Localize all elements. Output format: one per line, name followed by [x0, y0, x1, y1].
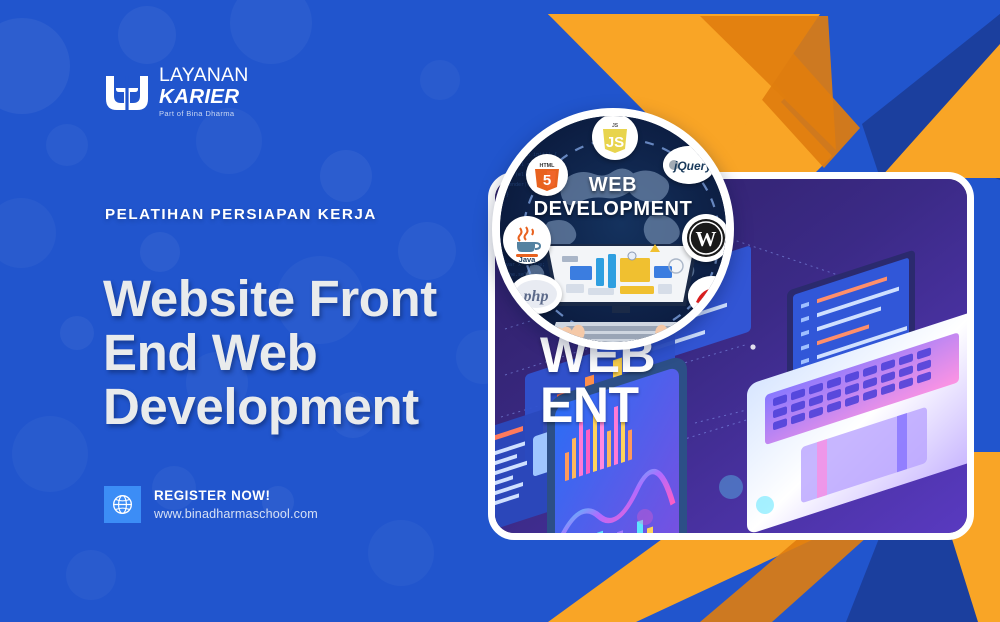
svg-text:JS: JS: [612, 123, 619, 129]
globe-icon: [111, 493, 134, 516]
register-cta[interactable]: REGISTER NOW! www.binadharmaschool.com: [104, 486, 318, 523]
svg-text:5: 5: [543, 172, 551, 189]
bd-monogram-icon: [104, 72, 150, 112]
promotional-banner: WEB ENT function init(): [0, 0, 1000, 622]
register-title: REGISTER NOW!: [154, 489, 318, 502]
content-column: LAYANAN KARIER Part of Bina Dharma PELAT…: [0, 0, 520, 622]
wordpress-icon: W: [682, 214, 730, 262]
register-url[interactable]: www.binadharmaschool.com: [154, 508, 318, 521]
html5-badge: HTML 5: [526, 154, 568, 196]
svg-text:HTML: HTML: [540, 163, 556, 169]
logo-line-2: KARIER: [159, 87, 249, 108]
svg-text:W: W: [696, 227, 717, 251]
svg-text:jQuery: jQuery: [672, 159, 713, 173]
logo-line-1: LAYANAN: [159, 66, 249, 86]
brand-logo[interactable]: LAYANAN KARIER Part of Bina Dharma: [104, 66, 249, 118]
svg-text:JS: JS: [606, 134, 624, 151]
jquery-icon: jQuery: [663, 146, 715, 184]
eyebrow-text: PELATIHAN PERSIAPAN KERJA: [105, 206, 377, 223]
html5-icon: HTML 5: [526, 154, 568, 196]
jquery-badge: jQuery: [663, 146, 715, 184]
svg-text:Java: Java: [519, 255, 537, 264]
wordpress-badge: W: [682, 214, 730, 262]
javascript-badge: JS JS: [592, 114, 638, 160]
logo-tagline: Part of Bina Dharma: [159, 110, 249, 118]
page-title: Website Front End Web Development: [103, 272, 533, 433]
globe-icon-box: [104, 486, 141, 523]
javascript-icon: JS JS: [592, 114, 638, 160]
